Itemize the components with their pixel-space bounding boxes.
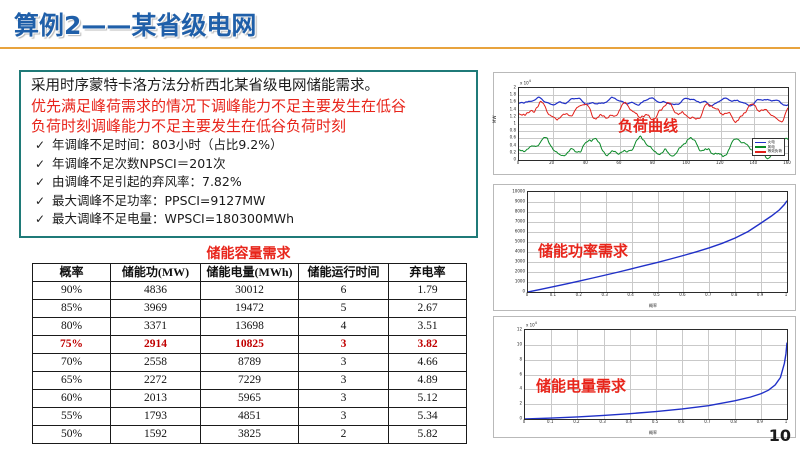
x-tick-label: 0.5 [652, 419, 658, 424]
table-row: 80%33711369843.51 [33, 318, 467, 336]
table-cell-5-3: 3 [299, 372, 389, 390]
x-tick-label: 1 [785, 292, 788, 297]
x-tick-label: 160 [783, 160, 791, 165]
table-cell-4-1: 2558 [111, 354, 201, 372]
summary-line-1: 采用时序蒙特卡洛方法分析西北某省级电网储能需求。 [31, 77, 468, 96]
check-icon: ✓ [35, 193, 52, 211]
check-icon: ✓ [35, 174, 52, 192]
table-cell-7-4: 5.34 [389, 408, 467, 426]
x-tick-label: 0.8 [730, 419, 736, 424]
table-header-row: 概率储能功(MW)储能电量(MWh)储能运行时间弃电率 [33, 264, 467, 282]
x-tick-label: 0.9 [757, 419, 763, 424]
bullet-item-2: ✓年调峰不足次数NPSCI＝201次 [31, 155, 468, 174]
y-tick-label: 1000 [515, 279, 525, 284]
table-cell-5-4: 4.89 [389, 372, 467, 390]
summary-line-3: 负荷时刻调峰能力不足主要发生在低谷负荷时刻 [31, 116, 468, 136]
table-cell-4-3: 3 [299, 354, 389, 372]
table-row: 90%48363001261.79 [33, 282, 467, 300]
series-line [519, 97, 788, 106]
bullet-label: 由调峰不足引起的弃风率：7.82% [52, 174, 242, 189]
chart-load-curve: x 104 MW 负荷曲线 火电风电等效负荷 02040608010012014… [493, 72, 796, 175]
y-tick-label: 1.6 [510, 99, 516, 104]
x-axis-label: 概率 [649, 303, 657, 309]
chart-overlay-label-energy: 储能电量需求 [536, 375, 626, 396]
legend-swatch [755, 142, 766, 144]
y-tick-label: 1.8 [510, 92, 516, 97]
table-row: 55%1793485135.34 [33, 408, 467, 426]
table-cell-7-1: 1793 [111, 408, 201, 426]
chart-storage-power-demand: 概率 储能功率需求 00.10.20.30.40.50.60.70.80.910… [493, 184, 796, 311]
table-cell-3-0: 75% [33, 336, 111, 354]
table-cell-4-0: 70% [33, 354, 111, 372]
y-axis-label: MW [492, 116, 497, 123]
table-cell-1-3: 5 [299, 300, 389, 318]
x-tick-label: 0.4 [627, 292, 633, 297]
table-cell-7-0: 55% [33, 408, 111, 426]
table-cell-8-2: 3825 [201, 426, 299, 444]
table-cell-0-0: 90% [33, 282, 111, 300]
x-tick-label: 40 [583, 160, 588, 165]
x-tick-label: 140 [750, 160, 758, 165]
y-tick-label: 10000 [512, 189, 525, 194]
table-cell-8-4: 5.82 [389, 426, 467, 444]
bullet-label: 最大调峰不足功率：PPSCI=9127MW [52, 193, 265, 208]
x-axis-label: 概率 [649, 430, 657, 436]
x-tick-label: 0.3 [599, 419, 605, 424]
check-icon: ✓ [35, 211, 52, 229]
y-tick-label: 0 [513, 157, 516, 162]
y-tick-label: 4000 [515, 249, 525, 254]
table-header-cell-3: 储能运行时间 [299, 264, 389, 282]
summary-textbox: 采用时序蒙特卡洛方法分析西北某省级电网储能需求。 优先满足峰荷需求的情况下调峰能… [19, 70, 478, 238]
table-cell-6-0: 60% [33, 390, 111, 408]
table-cell-8-3: 2 [299, 426, 389, 444]
y-tick-label: 10 [517, 341, 522, 346]
y-tick-label: 0.8 [510, 128, 516, 133]
table-cell-5-0: 65% [33, 372, 111, 390]
y-exponent-label: x 104 [526, 321, 537, 327]
table-cell-2-2: 13698 [201, 318, 299, 336]
x-tick-label: 1 [785, 419, 788, 424]
page-title: 算例2——某省级电网 [14, 6, 256, 42]
y-tick-label: 8000 [515, 209, 525, 214]
bullet-item-1: ✓年调峰不足时间：803小时（占比9.2%） [31, 136, 468, 155]
x-tick-label: 0 [517, 160, 520, 165]
table-cell-4-2: 8789 [201, 354, 299, 372]
y-tick-label: 0 [519, 416, 522, 421]
table-header-cell-1: 储能功(MW) [111, 264, 201, 282]
x-tick-label: 0.2 [576, 292, 582, 297]
bullet-label: 年调峰不足次数NPSCI＝201次 [52, 156, 226, 171]
x-tick-label: 0.7 [705, 292, 711, 297]
y-tick-label: 0.6 [510, 135, 516, 140]
table-cell-3-1: 2914 [111, 336, 201, 354]
bullet-item-3: ✓由调峰不足引起的弃风率：7.82% [31, 173, 468, 192]
x-tick-label: 0 [523, 419, 526, 424]
bullet-item-4: ✓最大调峰不足功率：PPSCI=9127MW [31, 192, 468, 211]
x-tick-label: 0.8 [731, 292, 737, 297]
table-row: 50%1592382525.82 [33, 426, 467, 444]
chart-legend: 火电风电等效负荷 [752, 138, 785, 156]
table-cell-8-1: 1592 [111, 426, 201, 444]
x-tick-label: 0.6 [678, 419, 684, 424]
x-tick-label: 0.1 [550, 292, 556, 297]
table-cell-6-4: 5.12 [389, 390, 467, 408]
check-icon: ✓ [35, 137, 52, 155]
check-icon: ✓ [35, 156, 52, 174]
legend-item: 等效负荷 [755, 149, 782, 154]
y-tick-label: 5000 [515, 239, 525, 244]
bullet-item-5: ✓最大调峰不足电量：WPSCI=180300MWh [31, 210, 468, 229]
table-cell-2-4: 3.51 [389, 318, 467, 336]
x-tick-label: 60 [616, 160, 621, 165]
storage-capacity-table: 概率储能功(MW)储能电量(MWh)储能运行时间弃电率 90%483630012… [32, 263, 467, 444]
x-tick-label: 0.6 [679, 292, 685, 297]
y-tick-label: 2 [513, 85, 516, 90]
x-tick-label: 0.2 [573, 419, 579, 424]
table-row: 70%2558878934.66 [33, 354, 467, 372]
x-tick-label: 20 [549, 160, 554, 165]
table-header-cell-0: 概率 [33, 264, 111, 282]
table-cell-3-2: 10825 [201, 336, 299, 354]
bullet-label: 年调峰不足时间：803小时（占比9.2%） [52, 137, 283, 152]
series-line [519, 136, 788, 159]
chart-overlay-label-load: 负荷曲线 [618, 115, 678, 136]
x-tick-label: 0.4 [626, 419, 632, 424]
title-divider [0, 47, 800, 49]
table-cell-2-3: 4 [299, 318, 389, 336]
table-cell-2-1: 3371 [111, 318, 201, 336]
x-tick-label: 80 [650, 160, 655, 165]
y-tick-label: 6000 [515, 229, 525, 234]
y-tick-label: 6 [519, 371, 522, 376]
chart-overlay-label-power: 储能功率需求 [538, 240, 628, 261]
page-number: 10 [769, 426, 791, 445]
table-row: 75%29141082533.82 [33, 336, 467, 354]
table-cell-1-1: 3969 [111, 300, 201, 318]
y-tick-label: 12 [517, 327, 522, 332]
table-caption: 储能容量需求 [19, 243, 478, 263]
bullet-label: 最大调峰不足电量：WPSCI=180300MWh [52, 211, 294, 226]
table-cell-8-0: 50% [33, 426, 111, 444]
x-tick-label: 0.3 [602, 292, 608, 297]
x-tick-label: 120 [716, 160, 724, 165]
table-cell-4-4: 4.66 [389, 354, 467, 372]
table-cell-5-2: 7229 [201, 372, 299, 390]
table-row: 60%2013596535.12 [33, 390, 467, 408]
y-tick-label: 2 [519, 401, 522, 406]
table-cell-5-1: 2272 [111, 372, 201, 390]
table-cell-3-4: 3.82 [389, 336, 467, 354]
table-cell-6-1: 2013 [111, 390, 201, 408]
table-header-cell-2: 储能电量(MWh) [201, 264, 299, 282]
y-tick-label: 0.4 [510, 142, 516, 147]
table-row: 85%39691947252.67 [33, 300, 467, 318]
x-tick-label: 0.1 [547, 419, 553, 424]
y-tick-label: 1 [513, 121, 516, 126]
y-tick-label: 0 [522, 289, 525, 294]
table-row: 65%2272722934.89 [33, 372, 467, 390]
summary-line-2: 优先满足峰荷需求的情况下调峰能力不足主要发生在低谷 [31, 96, 468, 116]
table-cell-3-3: 3 [299, 336, 389, 354]
x-tick-label: 100 [682, 160, 690, 165]
y-tick-label: 1.2 [510, 113, 516, 118]
y-tick-label: 0.2 [510, 149, 516, 154]
y-tick-label: 8 [519, 356, 522, 361]
table-cell-0-3: 6 [299, 282, 389, 300]
chart-storage-energy-demand: x 104 概率 储能电量需求 00.10.20.30.40.50.60.70.… [493, 316, 796, 438]
x-tick-label: 0.5 [653, 292, 659, 297]
y-exponent-label: x 104 [520, 79, 531, 85]
y-tick-label: 1.4 [510, 106, 516, 111]
y-tick-label: 3000 [515, 259, 525, 264]
y-tick-label: 2000 [515, 269, 525, 274]
table-cell-1-0: 85% [33, 300, 111, 318]
table-cell-0-4: 1.79 [389, 282, 467, 300]
legend-label: 等效负荷 [768, 149, 782, 154]
table-cell-6-2: 5965 [201, 390, 299, 408]
x-tick-label: 0 [526, 292, 529, 297]
table-cell-2-0: 80% [33, 318, 111, 336]
table-cell-0-2: 30012 [201, 282, 299, 300]
x-tick-label: 0.9 [757, 292, 763, 297]
table-cell-6-3: 3 [299, 390, 389, 408]
table-cell-7-3: 3 [299, 408, 389, 426]
y-tick-label: 7000 [515, 219, 525, 224]
table-cell-0-1: 4836 [111, 282, 201, 300]
y-tick-label: 9000 [515, 199, 525, 204]
table-header-cell-4: 弃电率 [389, 264, 467, 282]
table-cell-1-2: 19472 [201, 300, 299, 318]
x-tick-label: 0.7 [704, 419, 710, 424]
y-tick-label: 4 [519, 386, 522, 391]
table-cell-1-4: 2.67 [389, 300, 467, 318]
legend-swatch [755, 146, 766, 148]
table-cell-7-2: 4851 [201, 408, 299, 426]
legend-swatch [755, 151, 766, 153]
